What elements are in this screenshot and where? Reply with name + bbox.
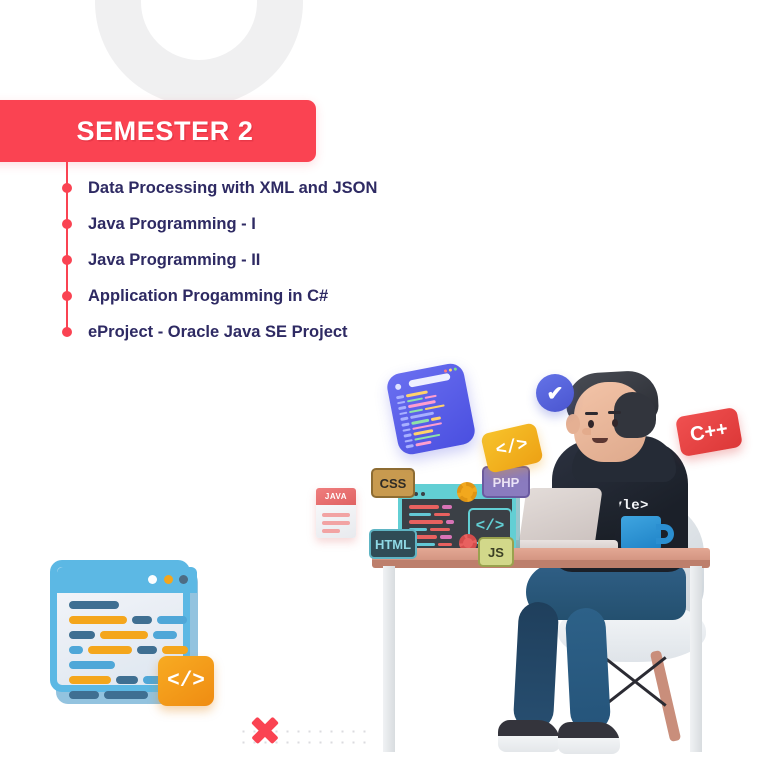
badge-js: JS bbox=[478, 537, 514, 567]
person-legs bbox=[492, 560, 672, 760]
blue-code-editor-card bbox=[385, 361, 477, 456]
editor-search-pill bbox=[408, 373, 451, 388]
shin-left bbox=[513, 601, 560, 731]
hair-front bbox=[614, 392, 656, 438]
editor-window-dots bbox=[444, 367, 457, 372]
badge-css: CSS bbox=[371, 468, 415, 498]
desk-edge bbox=[372, 560, 710, 568]
badge-php: PHP bbox=[482, 466, 530, 498]
editor-dot bbox=[395, 383, 402, 390]
desk-leg-right bbox=[690, 566, 702, 752]
window-titlebar bbox=[57, 567, 197, 593]
code-badge-icon: </> bbox=[158, 656, 214, 706]
badge-html: HTML bbox=[369, 529, 417, 559]
window-dot-dark bbox=[179, 575, 188, 584]
eye-left bbox=[588, 420, 594, 428]
poster-canvas: SEMESTER 2 Data Processing with XML and … bbox=[0, 0, 760, 760]
desk-leg-left bbox=[383, 566, 395, 752]
java-document-label: JAVA bbox=[316, 488, 356, 505]
shoe-right bbox=[558, 722, 620, 754]
mouth bbox=[592, 438, 608, 443]
window-dot-orange bbox=[164, 575, 173, 584]
editor-code-rows bbox=[396, 384, 471, 452]
hero-illustration: </> <style> bbox=[0, 0, 760, 760]
nose bbox=[582, 428, 591, 435]
ear bbox=[566, 414, 580, 434]
shin-right bbox=[565, 607, 611, 733]
java-document-icon: JAVA bbox=[316, 488, 356, 538]
eyebrow-left bbox=[585, 412, 598, 415]
yellow-code-badge-icon: </> bbox=[480, 422, 544, 474]
eye-right bbox=[612, 419, 618, 427]
gear-icon-orange bbox=[457, 482, 477, 502]
check-circle-icon: ✔ bbox=[536, 374, 574, 412]
badge-cpp: C++ bbox=[675, 407, 743, 457]
eyebrow-right bbox=[608, 411, 621, 414]
window-dot-white bbox=[148, 575, 157, 584]
code-window-illustration: </> bbox=[50, 560, 200, 708]
shoe-left bbox=[498, 720, 560, 752]
